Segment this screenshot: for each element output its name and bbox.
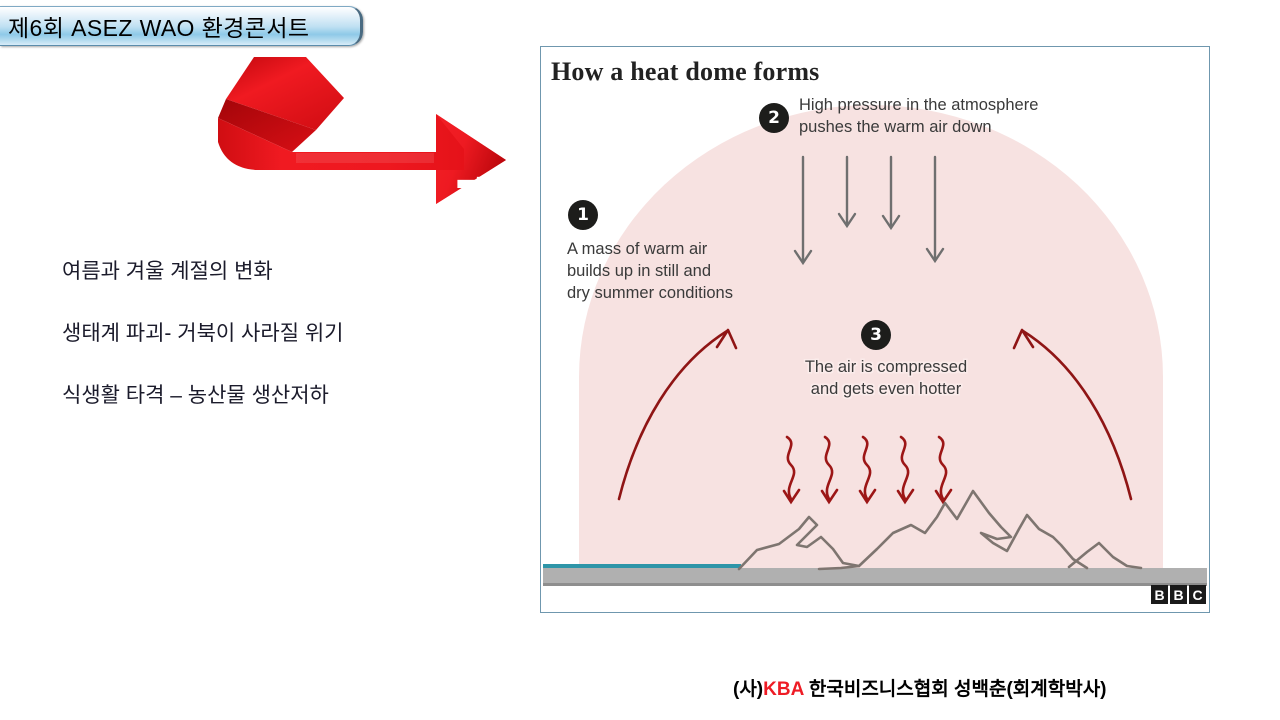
ground-bar: [543, 568, 1207, 585]
bbc-logo-letter: B: [1170, 585, 1187, 604]
step-text-3-line: and gets even hotter: [771, 379, 1001, 401]
footer-prefix: (사): [733, 679, 763, 700]
step-text-2-line: High pressure in the atmosphere: [799, 95, 1139, 117]
slide-bullet-list: 여름과 겨울 계절의 변화 생태계 파괴- 거북이 사라질 위기 식생활 타격 …: [62, 255, 492, 441]
bbc-logo-letter: C: [1189, 585, 1206, 604]
step-text-2-line: pushes the warm air down: [799, 117, 1139, 139]
bullet-item: 식생활 타격 – 농산물 생산저하: [62, 379, 492, 409]
step-text-3-line: The air is compressed: [771, 357, 1001, 379]
global-warming-arrow: 지구온난화 지구온난화: [196, 52, 516, 212]
step-badge-2: 2: [759, 103, 789, 133]
step-text-1: A mass of warm air builds up in still an…: [567, 239, 807, 304]
step-badge-1: 1: [568, 200, 598, 230]
footer-kba-highlight: KBA: [763, 679, 803, 700]
step-text-1-line: A mass of warm air: [567, 239, 807, 261]
figure-title: How a heat dome forms: [551, 57, 820, 87]
step-text-3: The air is compressed and gets even hott…: [771, 357, 1001, 401]
step-text-1-line: builds up in still and: [567, 261, 807, 283]
step-badge-3: 3: [861, 320, 891, 350]
bbc-logo-letter: B: [1151, 585, 1168, 604]
footer-credit: (사)KBA 한국비즈니스협회 성백춘(회계학박사): [733, 674, 1107, 701]
heat-dome-figure: How a heat dome forms 1 A mass of warm a…: [540, 46, 1210, 613]
footer-suffix: 한국비즈니스협회 성백춘(회계학박사): [804, 679, 1107, 700]
bbc-logo: B B C: [1151, 585, 1206, 604]
bullet-item: 여름과 겨울 계절의 변화: [62, 255, 492, 285]
slide-title-banner: 제6회 ASEZ WAO 환경콘서트: [0, 6, 363, 46]
step-text-1-line: dry summer conditions: [567, 283, 807, 305]
bullet-item: 생태계 파괴- 거북이 사라질 위기: [62, 317, 492, 347]
sea-level-line: [543, 564, 741, 568]
slide-title-text: 제6회 ASEZ WAO 환경콘서트: [0, 9, 309, 43]
step-text-2: High pressure in the atmosphere pushes t…: [799, 95, 1139, 139]
